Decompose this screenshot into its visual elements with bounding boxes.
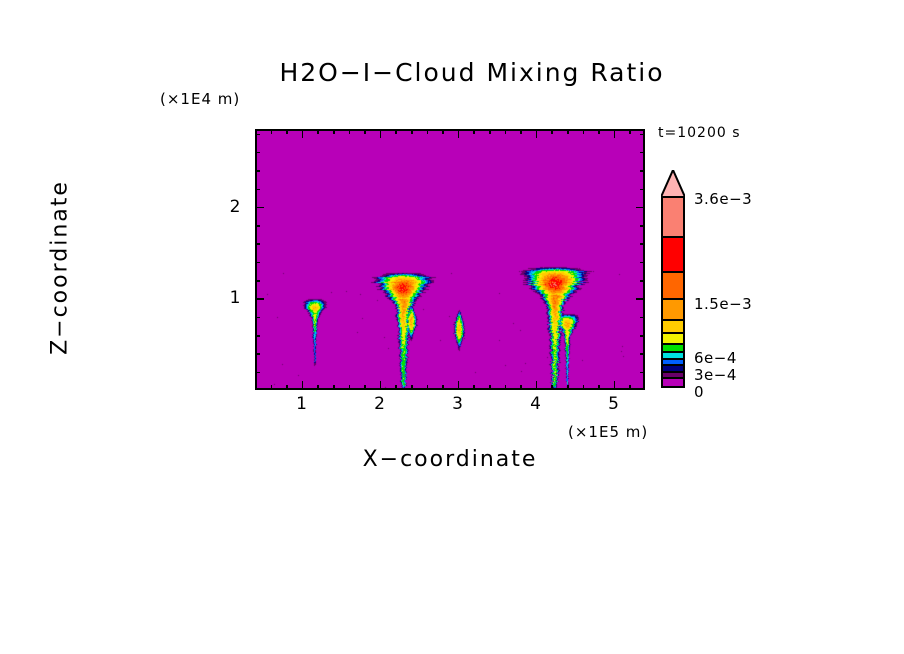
- x-tick-top: [567, 129, 569, 134]
- x-tick-bottom: [333, 385, 335, 390]
- z-tick-right: [640, 152, 645, 154]
- z-tick-right: [640, 189, 645, 191]
- colorbar-band-divider: [663, 271, 683, 273]
- z-tick-left: [255, 262, 260, 264]
- x-tick-label: 3: [438, 394, 478, 414]
- x-tick-top: [536, 129, 538, 138]
- x-axis-unit-label: (×1E5 m): [568, 423, 648, 441]
- x-tick-bottom: [302, 381, 304, 390]
- colorbar-band: [663, 198, 683, 238]
- y-axis-unit-label: (×1E4 m): [160, 90, 240, 108]
- z-tick-right: [640, 372, 645, 374]
- z-tick-right: [640, 317, 645, 319]
- z-tick-right: [640, 335, 645, 337]
- colorbar-overflow-arrow: [661, 170, 685, 197]
- z-tick-right: [636, 298, 645, 300]
- x-tick-top: [271, 129, 273, 134]
- x-tick-top: [629, 129, 631, 134]
- colorbar-band-divider: [663, 332, 683, 334]
- z-tick-left: [255, 353, 260, 355]
- x-tick-bottom: [427, 385, 429, 390]
- x-tick-bottom: [505, 385, 507, 390]
- colorbar-band-divider: [663, 364, 683, 366]
- x-tick-bottom: [598, 385, 600, 390]
- x-tick-bottom: [551, 385, 553, 390]
- colorbar-band: [663, 300, 683, 322]
- x-tick-label: 4: [516, 394, 556, 414]
- colorbar-band: [663, 238, 683, 273]
- scalar-field-canvas: [257, 131, 643, 388]
- x-tick-top: [583, 129, 585, 134]
- x-tick-bottom: [473, 385, 475, 390]
- x-tick-bottom: [520, 385, 522, 390]
- x-tick-bottom: [411, 385, 413, 390]
- colorbar-tick-label: 1.5e−3: [694, 295, 752, 313]
- colorbar-band-divider: [663, 236, 683, 238]
- x-tick-bottom: [317, 385, 319, 390]
- chart-title: H2O−I−Cloud Mixing Ratio: [0, 58, 904, 87]
- z-tick-right: [640, 353, 645, 355]
- x-tick-bottom: [286, 385, 288, 390]
- chart-title-text: H2O−I−Cloud Mixing Ratio: [239, 58, 664, 87]
- colorbar-band: [663, 273, 683, 299]
- x-tick-top: [505, 129, 507, 134]
- x-tick-bottom: [583, 385, 585, 390]
- x-tick-label: 5: [594, 394, 634, 414]
- x-tick-top: [302, 129, 304, 138]
- colorbar-tick-label: 3.6e−3: [694, 190, 752, 208]
- z-tick-left: [255, 243, 260, 245]
- colorbar-band-divider: [663, 377, 683, 379]
- x-tick-bottom: [364, 385, 366, 390]
- x-tick-top: [598, 129, 600, 134]
- z-tick-left: [255, 152, 260, 154]
- colorbar-band-divider: [663, 298, 683, 300]
- x-tick-top: [333, 129, 335, 134]
- x-tick-bottom: [349, 385, 351, 390]
- colorbar-band-divider: [663, 351, 683, 353]
- z-tick-right: [636, 207, 645, 209]
- x-tick-top: [380, 129, 382, 138]
- z-tick-label: 1: [215, 288, 241, 308]
- z-tick-left: [255, 189, 260, 191]
- colorbar-band: [663, 379, 683, 386]
- x-tick-top: [286, 129, 288, 134]
- x-tick-bottom: [271, 385, 273, 390]
- y-axis-title: Z−coordinate: [48, 148, 73, 388]
- x-tick-top: [364, 129, 366, 134]
- contour-plot-area: [255, 129, 645, 390]
- z-tick-left: [255, 225, 260, 227]
- colorbar-band-divider: [663, 371, 683, 373]
- colorbar-tick-label: 3e−4: [694, 366, 737, 384]
- x-tick-top: [473, 129, 475, 134]
- x-tick-bottom: [567, 385, 569, 390]
- colorbar-band-divider: [663, 343, 683, 345]
- x-tick-label: 1: [282, 394, 322, 414]
- x-tick-top: [614, 129, 616, 138]
- z-tick-right: [640, 225, 645, 227]
- colorbar: [661, 196, 685, 388]
- x-tick-label: 2: [360, 394, 400, 414]
- time-label: t=10200 s: [658, 125, 741, 141]
- x-tick-bottom: [536, 381, 538, 390]
- z-tick-right: [640, 280, 645, 282]
- x-tick-bottom: [380, 381, 382, 390]
- z-tick-left: [255, 207, 264, 209]
- x-tick-top: [520, 129, 522, 134]
- x-tick-bottom: [629, 385, 631, 390]
- x-tick-top: [551, 129, 553, 134]
- x-tick-top: [427, 129, 429, 134]
- x-tick-top: [458, 129, 460, 138]
- x-tick-top: [395, 129, 397, 134]
- x-tick-top: [349, 129, 351, 134]
- z-tick-left: [255, 335, 260, 337]
- x-tick-bottom: [395, 385, 397, 390]
- x-tick-bottom: [458, 381, 460, 390]
- z-tick-right: [640, 262, 645, 264]
- z-tick-right: [640, 170, 645, 172]
- x-tick-bottom: [614, 381, 616, 390]
- colorbar-tick-label: 0: [694, 383, 704, 401]
- z-tick-left: [255, 170, 260, 172]
- z-tick-left: [255, 280, 260, 282]
- colorbar-tick-label: 6e−4: [694, 349, 737, 367]
- z-tick-left: [255, 298, 264, 300]
- x-tick-bottom: [442, 385, 444, 390]
- z-tick-left: [255, 134, 260, 136]
- colorbar-band-divider: [663, 319, 683, 321]
- z-tick-left: [255, 317, 260, 319]
- z-tick-label: 2: [215, 197, 241, 217]
- x-tick-top: [442, 129, 444, 134]
- z-tick-left: [255, 372, 260, 374]
- z-tick-right: [640, 243, 645, 245]
- x-tick-bottom: [489, 385, 491, 390]
- x-tick-top: [489, 129, 491, 134]
- x-tick-top: [317, 129, 319, 134]
- x-tick-bottom: [255, 385, 257, 390]
- figure-canvas: H2O−I−Cloud Mixing Ratio (×1E4 m) (×1E5 …: [0, 0, 904, 654]
- colorbar-band-divider: [663, 358, 683, 360]
- z-tick-right: [640, 134, 645, 136]
- x-tick-top: [411, 129, 413, 134]
- x-axis-title: X−coordinate: [255, 447, 645, 472]
